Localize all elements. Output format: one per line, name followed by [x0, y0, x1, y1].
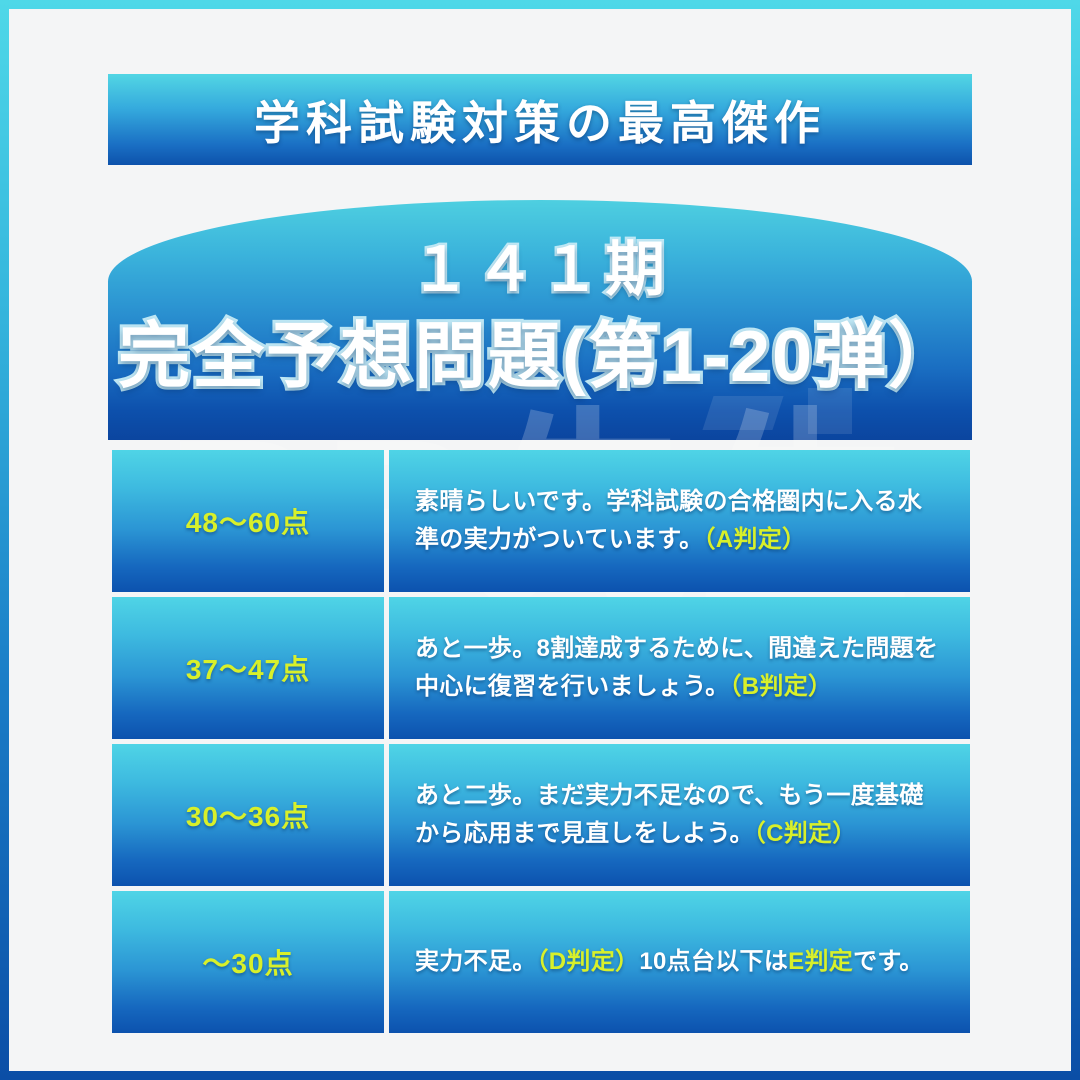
- title-dome-block: １４１期 完全予想問題(第1-20弾）: [108, 200, 972, 440]
- score-cell: 〜30点: [112, 891, 384, 1033]
- score-cell: 37〜47点: [112, 597, 384, 739]
- header-banner: 学科試験対策の最高傑作: [108, 74, 972, 165]
- grade-badge: （A判定）: [703, 526, 806, 553]
- grade-badge: （D判定）: [537, 948, 640, 975]
- title-line-1: １４１期: [410, 240, 670, 300]
- description-cell: 実力不足。（D判定）10点台以下はE判定です。: [389, 891, 970, 1033]
- title-line-2: 完全予想問題(第1-20弾）: [118, 320, 962, 396]
- table-row: 〜30点 実力不足。（D判定）10点台以下はE判定です。: [112, 891, 970, 1033]
- score-cell: 30〜36点: [112, 744, 384, 886]
- table-row: 37〜47点 あと一歩。8割達成するために、間違えた問題を中心に復習を行いましょ…: [112, 597, 970, 739]
- description-text: 実力不足。（D判定）10点台以下はE判定です。: [415, 943, 924, 981]
- description-body: 実力不足。: [415, 948, 537, 975]
- description-text: 素晴らしいです。学科試験の合格圏内に入る水準の実力がついています。（A判定）: [415, 483, 944, 559]
- description-cell: 素晴らしいです。学科試験の合格圏内に入る水準の実力がついています。（A判定）: [389, 450, 970, 592]
- description-text: あと二歩。まだ実力不足なので、もう一度基礎から応用まで見直しをしよう。（C判定）: [415, 777, 944, 853]
- score-range-label: 48〜60点: [186, 501, 310, 541]
- grade-badge: （C判定）: [754, 820, 857, 847]
- poster-frame: BR先生 学科試験対策の最高傑作 １４１期 完全予想問題(第1-20弾）: [0, 0, 1080, 1080]
- table-row: 48〜60点 素晴らしいです。学科試験の合格圏内に入る水準の実力がついています。…: [112, 450, 970, 592]
- score-grade-table: 48〜60点 素晴らしいです。学科試験の合格圏内に入る水準の実力がついています。…: [112, 450, 970, 1033]
- grade-badge: （B判定）: [729, 673, 832, 700]
- header-banner-title: 学科試験対策の最高傑作: [254, 87, 826, 153]
- title-text-group: １４１期 完全予想問題(第1-20弾）: [108, 200, 972, 440]
- description-tail: です。: [853, 948, 924, 975]
- score-cell: 48〜60点: [112, 450, 384, 592]
- description-text: あと一歩。8割達成するために、間違えた問題を中心に復習を行いましょう。（B判定）: [415, 630, 944, 706]
- score-range-label: 30〜36点: [186, 795, 310, 835]
- score-range-label: 37〜47点: [186, 648, 310, 688]
- description-middle: 10点台以下は: [639, 948, 788, 975]
- description-cell: あと二歩。まだ実力不足なので、もう一度基礎から応用まで見直しをしよう。（C判定）: [389, 744, 970, 886]
- description-cell: あと一歩。8割達成するために、間違えた問題を中心に復習を行いましょう。（B判定）: [389, 597, 970, 739]
- description-body: 素晴らしいです。学科試験の合格圏内に入る水準の実力がついています。: [415, 488, 922, 553]
- description-body: あと一歩。8割達成するために、間違えた問題を中心に復習を行いましょう。: [415, 635, 938, 700]
- score-range-label: 〜30点: [202, 942, 293, 982]
- poster-inner: BR先生 学科試験対策の最高傑作 １４１期 完全予想問題(第1-20弾）: [9, 9, 1071, 1071]
- grade-badge-secondary: E判定: [788, 948, 853, 975]
- table-row: 30〜36点 あと二歩。まだ実力不足なので、もう一度基礎から応用まで見直しをしよ…: [112, 744, 970, 886]
